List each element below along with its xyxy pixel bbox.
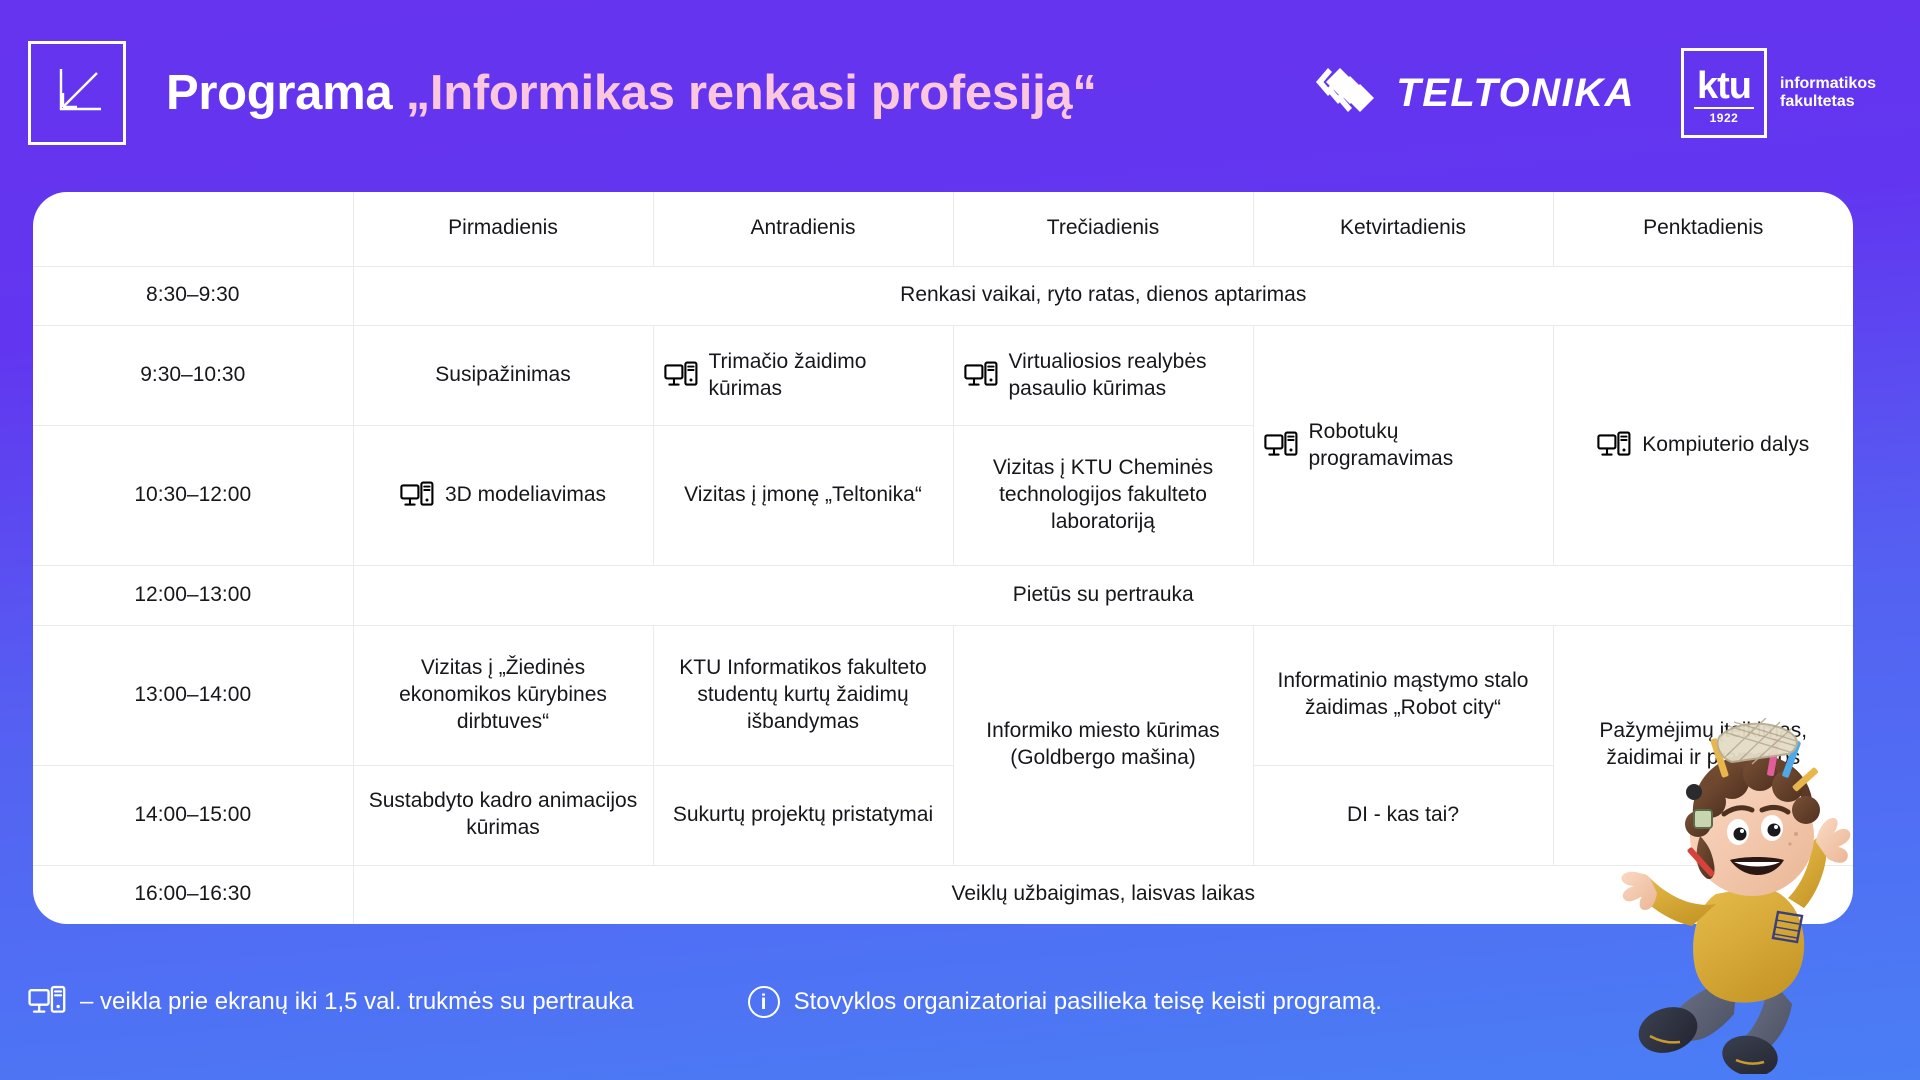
desktop-computer-icon bbox=[1597, 431, 1631, 461]
cell-tue-0930-label: Trimačio žaidimo kūrimas bbox=[709, 349, 943, 403]
time-label-1600: 16:00–16:30 bbox=[33, 865, 353, 924]
cell-tue-1030[interactable]: Vizitas į įmonę „Teltonika“ bbox=[653, 425, 953, 565]
header-logos: TELTONIKA ktu 1922 informatikos fakultet… bbox=[1314, 48, 1876, 138]
table-row-0930: 9:30–10:30 Susipažinimas Trimačio žaidim… bbox=[33, 326, 1853, 426]
ktu-wordmark: ktu bbox=[1697, 69, 1751, 103]
cell-mon-0930: Susipažinimas bbox=[353, 326, 653, 426]
ktu-logo-rule bbox=[1694, 107, 1754, 109]
schedule-card: Pirmadienis Antradienis Trečiadienis Ket… bbox=[33, 192, 1853, 924]
cell-closing: Veiklų užbaigimas, laisvas laikas bbox=[353, 865, 1853, 924]
ktu-logo-box: ktu 1922 bbox=[1681, 48, 1767, 138]
cell-lunch: Pietūs su pertrauka bbox=[353, 566, 1853, 626]
teltonika-logo: TELTONIKA bbox=[1314, 64, 1635, 122]
footer-screen-note: – veikla prie ekranų iki 1,5 val. trukmė… bbox=[28, 985, 634, 1019]
cell-morning-circle: Renkasi vaikai, ryto ratas, dienos aptar… bbox=[353, 266, 1853, 326]
time-label-1400: 14:00–15:00 bbox=[33, 765, 353, 865]
column-header-antradienis: Antradienis bbox=[653, 192, 953, 266]
ktu-founding-year: 1922 bbox=[1710, 111, 1739, 125]
footer-info-note: i Stovyklos organizatoriai pasilieka tei… bbox=[748, 986, 1382, 1018]
schedule-table: Pirmadienis Antradienis Trečiadienis Ket… bbox=[33, 192, 1853, 924]
page-title-main: Programa bbox=[166, 66, 392, 120]
footer-screen-note-label: – veikla prie ekranų iki 1,5 val. trukmė… bbox=[80, 988, 634, 1016]
teltonika-chevron-icon bbox=[1314, 64, 1394, 122]
cell-thu-1300: Informatinio mąstymo stalo žaidimas „Rob… bbox=[1253, 625, 1553, 765]
cell-thu-0930-label: Robotukų programavimas bbox=[1309, 419, 1543, 473]
table-row-1200: 12:00–13:00 Pietūs su pertrauka bbox=[33, 566, 1853, 626]
ktu-faculty-line-1: informatikos bbox=[1780, 75, 1876, 93]
table-header-row: Pirmadienis Antradienis Trečiadienis Ket… bbox=[33, 192, 1853, 266]
cell-wed-0930-label: Virtualiosios realybės pasaulio kūrimas bbox=[1009, 349, 1243, 403]
footer-info-note-label: Stovyklos organizatoriai pasilieka teisę… bbox=[794, 988, 1382, 1016]
cell-tue-1300: KTU Informatikos fakulteto studentų kurt… bbox=[653, 625, 953, 765]
info-glyph: i bbox=[761, 992, 767, 1013]
cell-fri-1300: Pažymėjimų įteikimas, žaidimai ir pramog… bbox=[1553, 625, 1853, 865]
cell-mon-1300[interactable]: Vizitas į „Žiedinės ekonomikos kūrybines… bbox=[353, 625, 653, 765]
down-left-arrow-square-logo bbox=[28, 41, 126, 145]
cell-mon-1400: Sustabdyto kadro animacijos kūrimas bbox=[353, 765, 653, 865]
cell-thu-0930: Robotukų programavimas bbox=[1253, 326, 1553, 566]
table-corner-cell bbox=[33, 192, 353, 266]
time-label-1300: 13:00–14:00 bbox=[33, 625, 353, 765]
page-title: Programa „Informikas renkasi profesiją“ bbox=[166, 65, 1097, 121]
cell-fri-0930: Kompiuterio dalys bbox=[1553, 326, 1853, 566]
cell-wed-1300: Informiko miesto kūrimas (Goldbergo maši… bbox=[953, 625, 1253, 865]
column-header-ketvirtadienis: Ketvirtadienis bbox=[1253, 192, 1553, 266]
page-header: Programa „Informikas renkasi profesiją“ … bbox=[0, 0, 1920, 186]
desktop-computer-icon bbox=[1264, 431, 1298, 461]
column-header-treciadienis: Trečiadienis bbox=[953, 192, 1253, 266]
info-circle-icon: i bbox=[748, 986, 780, 1018]
ktu-logo: ktu 1922 informatikos fakultetas bbox=[1681, 48, 1876, 138]
table-row-1300: 13:00–14:00 Vizitas į „Žiedinės ekonomik… bbox=[33, 625, 1853, 765]
page-footer: – veikla prie ekranų iki 1,5 val. trukmė… bbox=[0, 924, 1920, 1080]
desktop-computer-icon bbox=[964, 361, 998, 391]
time-label-0830: 8:30–9:30 bbox=[33, 266, 353, 326]
ktu-faculty-line-2: fakultetas bbox=[1780, 93, 1876, 111]
cell-mon-1030-label: 3D modeliavimas bbox=[445, 482, 606, 509]
cell-wed-0930: Virtualiosios realybės pasaulio kūrimas bbox=[953, 326, 1253, 426]
ktu-faculty-name: informatikos fakultetas bbox=[1767, 75, 1876, 111]
cell-tue-0930: Trimačio žaidimo kūrimas bbox=[653, 326, 953, 426]
time-label-1030: 10:30–12:00 bbox=[33, 425, 353, 565]
page-title-quoted: „Informikas renkasi profesiją“ bbox=[406, 66, 1097, 120]
cell-mon-1030: 3D modeliavimas bbox=[353, 425, 653, 565]
table-row-0830: 8:30–9:30 Renkasi vaikai, ryto ratas, di… bbox=[33, 266, 1853, 326]
cell-wed-1030[interactable]: Vizitas į KTU Cheminės technologijos fak… bbox=[953, 425, 1253, 565]
cell-tue-1400: Sukurtų projektų pristatymai bbox=[653, 765, 953, 865]
column-header-penktadienis: Penktadienis bbox=[1553, 192, 1853, 266]
cell-fri-0930-label: Kompiuterio dalys bbox=[1642, 432, 1809, 459]
column-header-pirmadienis: Pirmadienis bbox=[353, 192, 653, 266]
time-label-0930: 9:30–10:30 bbox=[33, 326, 353, 426]
cell-thu-1400: DI - kas tai? bbox=[1253, 765, 1553, 865]
desktop-computer-icon bbox=[400, 481, 434, 511]
teltonika-wordmark: TELTONIKA bbox=[1396, 71, 1635, 116]
table-row-1600: 16:00–16:30 Veiklų užbaigimas, laisvas l… bbox=[33, 865, 1853, 924]
time-label-1200: 12:00–13:00 bbox=[33, 566, 353, 626]
desktop-computer-icon bbox=[664, 361, 698, 391]
desktop-computer-icon bbox=[28, 985, 66, 1019]
